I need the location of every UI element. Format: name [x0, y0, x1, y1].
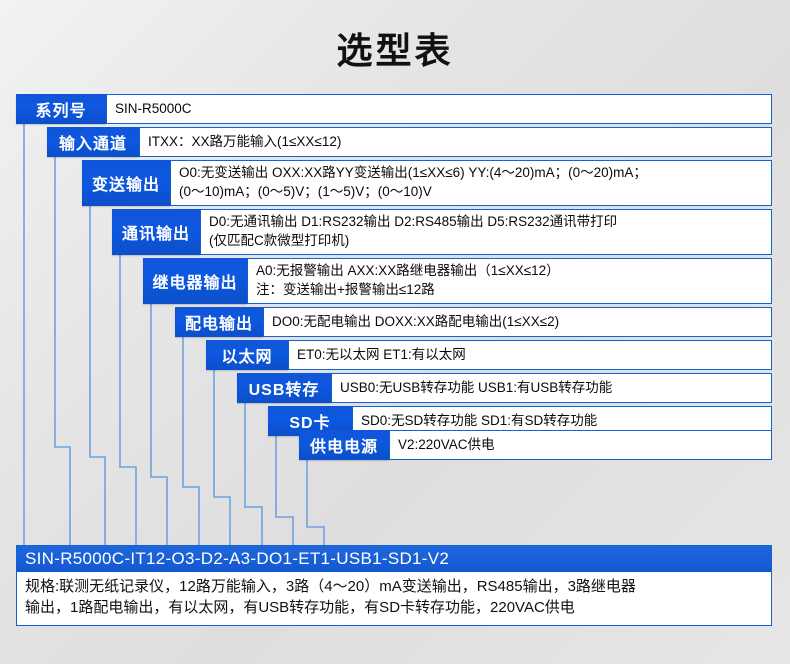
option-category-label[interactable]: 通讯输出: [112, 209, 200, 255]
option-row: 变送输出O0:无变送输出 OXX:XX路YY变送输出(1≤XX≤6) YY:(4…: [82, 160, 772, 206]
option-category-label[interactable]: 配电输出: [175, 307, 263, 337]
summary-model-code: SIN-R5000C-IT12-O3-D2-A3-DO1-ET1-USB1-SD…: [17, 546, 771, 572]
option-description: V2:220VAC供电: [389, 430, 772, 460]
option-category-label[interactable]: 系列号: [16, 94, 106, 124]
option-description-line: (0～10)mA；(0～5)V；(1～5)V；(0～10)V: [179, 183, 763, 202]
option-description-line: ET0:无以太网 ET1:有以太网: [297, 346, 763, 365]
option-row: USB转存USB0:无USB转存功能 USB1:有USB转存功能: [237, 373, 772, 403]
option-description-line: V2:220VAC供电: [398, 436, 763, 455]
connector-line: [183, 337, 199, 545]
option-description-line: SIN-R5000C: [115, 100, 763, 119]
connector-line: [55, 157, 70, 545]
option-row: 供电电源V2:220VAC供电: [299, 430, 772, 460]
option-description-line: (仅匹配C款微型打印机): [209, 232, 763, 251]
option-category-label[interactable]: 继电器输出: [143, 258, 247, 304]
option-row: 以太网ET0:无以太网 ET1:有以太网: [206, 340, 772, 370]
option-description: O0:无变送输出 OXX:XX路YY变送输出(1≤XX≤6) YY:(4～20)…: [170, 160, 772, 206]
summary-panel: SIN-R5000C-IT12-O3-D2-A3-DO1-ET1-USB1-SD…: [16, 545, 772, 626]
summary-spec: 规格:联测无纸记录仪，12路万能输入，3路（4～20）mA变送输出，RS485输…: [17, 572, 771, 625]
option-row: 输入通道ITXX：XX路万能输入(1≤XX≤12): [47, 127, 772, 157]
connector-line: [120, 255, 136, 545]
option-category-label[interactable]: 变送输出: [82, 160, 170, 206]
summary-spec-line: 规格:联测无纸记录仪，12路万能输入，3路（4～20）mA变送输出，RS485输…: [25, 576, 763, 597]
option-description-line: A0:无报警输出 AXX:XX路继电器输出（1≤XX≤12）: [256, 262, 763, 281]
option-description-line: 注：变送输出+报警输出≤12路: [256, 281, 763, 300]
connector-line: [90, 206, 105, 545]
summary-spec-line: 输出，1路配电输出，有以太网，有USB转存功能，有SD卡转存功能，220VAC供…: [25, 597, 763, 618]
option-category-label[interactable]: 供电电源: [299, 430, 389, 460]
option-description: USB0:无USB转存功能 USB1:有USB转存功能: [331, 373, 772, 403]
option-description-line: D0:无通讯输出 D1:RS232输出 D2:RS485输出 D5:RS232通…: [209, 213, 763, 232]
option-description-line: DO0:无配电输出 DOXX:XX路配电输出(1≤XX≤2): [272, 313, 763, 332]
option-description-line: USB0:无USB转存功能 USB1:有USB转存功能: [340, 379, 763, 398]
option-description: ET0:无以太网 ET1:有以太网: [288, 340, 772, 370]
option-description: D0:无通讯输出 D1:RS232输出 D2:RS485输出 D5:RS232通…: [200, 209, 772, 255]
option-description-line: ITXX：XX路万能输入(1≤XX≤12): [148, 133, 763, 152]
option-row: 配电输出DO0:无配电输出 DOXX:XX路配电输出(1≤XX≤2): [175, 307, 772, 337]
connector-line: [214, 370, 230, 545]
connector-line: [307, 460, 324, 545]
option-row: 系列号SIN-R5000C: [16, 94, 772, 124]
connector-line: [151, 304, 167, 545]
option-category-label[interactable]: USB转存: [237, 373, 331, 403]
connector-line: [276, 436, 293, 545]
option-description: SIN-R5000C: [106, 94, 772, 124]
option-row: 继电器输出A0:无报警输出 AXX:XX路继电器输出（1≤XX≤12）注：变送输…: [143, 258, 772, 304]
option-description: A0:无报警输出 AXX:XX路继电器输出（1≤XX≤12）注：变送输出+报警输…: [247, 258, 772, 304]
option-category-label[interactable]: 输入通道: [47, 127, 139, 157]
option-description-line: SD0:无SD转存功能 SD1:有SD转存功能: [361, 412, 763, 431]
connector-line: [245, 403, 262, 545]
option-description-line: O0:无变送输出 OXX:XX路YY变送输出(1≤XX≤6) YY:(4～20)…: [179, 164, 763, 183]
option-description: DO0:无配电输出 DOXX:XX路配电输出(1≤XX≤2): [263, 307, 772, 337]
option-row: 通讯输出D0:无通讯输出 D1:RS232输出 D2:RS485输出 D5:RS…: [112, 209, 772, 255]
option-category-label[interactable]: 以太网: [206, 340, 288, 370]
option-description: ITXX：XX路万能输入(1≤XX≤12): [139, 127, 772, 157]
